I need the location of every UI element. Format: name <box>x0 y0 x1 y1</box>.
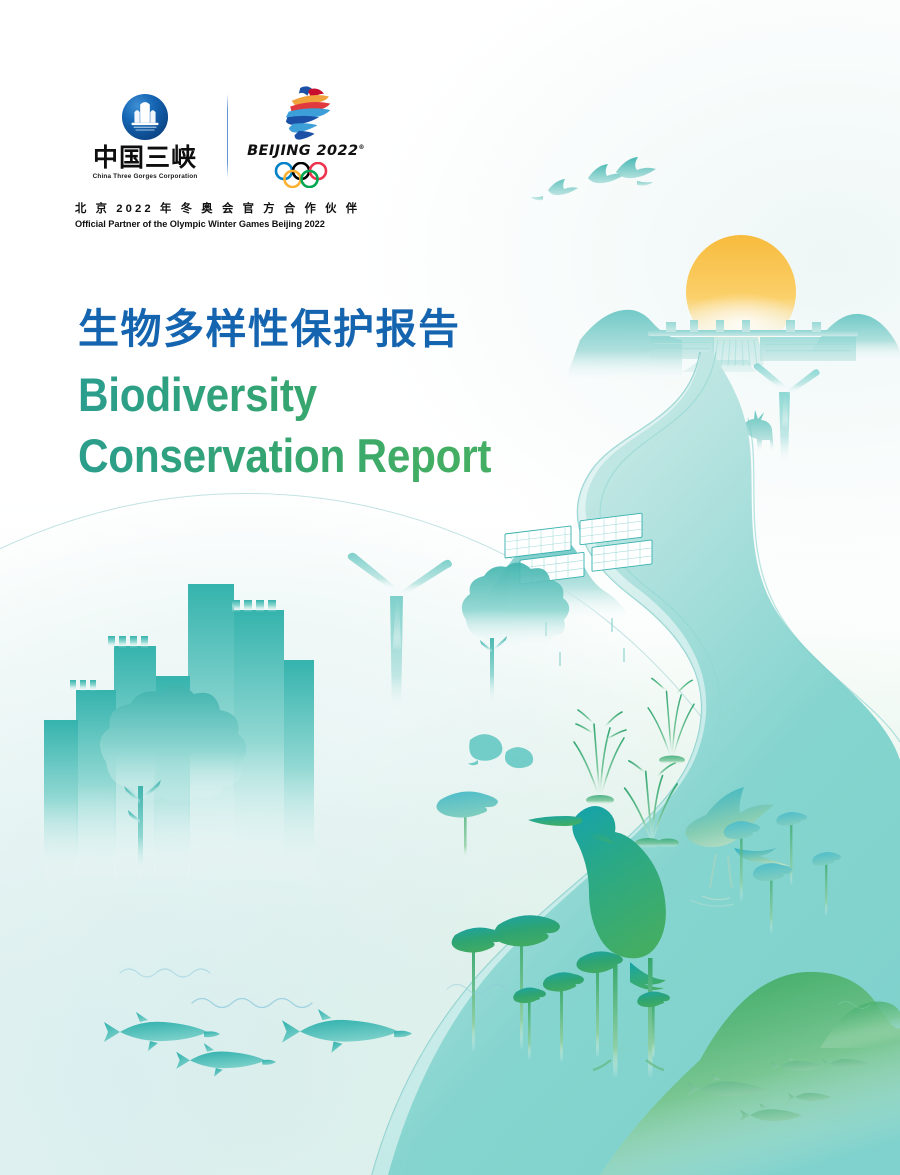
report-cover-page: 中国三峡 China Three Gorges Corporation BEIJ… <box>0 0 900 1175</box>
title-block: 生物多样性保护报告 Biodiversity Conservation Repo… <box>78 305 638 486</box>
olympic-rings-icon <box>273 162 339 188</box>
ctg-english-name: China Three Gorges Corporation <box>93 173 198 180</box>
ctg-chinese-name: 中国三峡 <box>93 145 197 170</box>
beijing-2022-wordmark: BEIJING 2022® <box>247 143 365 159</box>
beijing-2022-wordmark-text: BEIJING 2022 <box>247 143 358 159</box>
three-gorges-dam-emblem-icon <box>121 93 169 141</box>
logo-divider <box>227 94 228 178</box>
beijing-2022-emblem-icon <box>269 85 343 141</box>
logo-row: 中国三峡 China Three Gorges Corporation BEIJ… <box>75 82 405 190</box>
trademark-symbol: ® <box>358 144 364 151</box>
partner-statement: 北 京 2022 年 冬 奥 会 官 方 合 作 伙 伴 Official Pa… <box>75 202 405 231</box>
beijing-2022-logo: BEIJING 2022® <box>246 85 366 188</box>
partner-statement-en: Official Partner of the Olympic Winter G… <box>75 218 405 231</box>
report-title-english: Biodiversity Conservation Report <box>78 365 582 485</box>
report-title-chinese: 生物多样性保护报告 <box>78 305 638 353</box>
china-three-gorges-logo: 中国三峡 China Three Gorges Corporation <box>75 93 215 180</box>
partner-statement-cn: 北 京 2022 年 冬 奥 会 官 方 合 作 伙 伴 <box>75 202 405 217</box>
header-logo-block: 中国三峡 China Three Gorges Corporation BEIJ… <box>75 82 405 231</box>
